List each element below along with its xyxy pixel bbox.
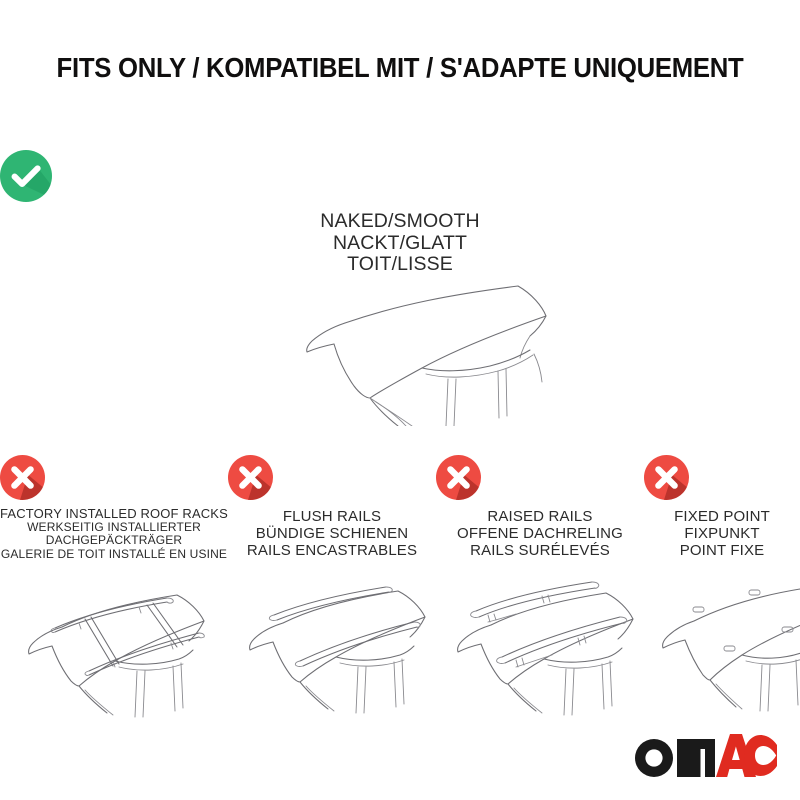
approved-section: NAKED/SMOOTH NACKT/GLATT TOIT/LISSE xyxy=(0,150,800,276)
omac-logo xyxy=(630,732,778,780)
x-circle-icon xyxy=(436,455,644,500)
car-roof-flush-rails-illustration xyxy=(228,565,436,725)
incompatible-section: FACTORY INSTALLED ROOF RACKS WERKSEITIG … xyxy=(0,455,800,727)
car-roof-fixed-point-illustration xyxy=(644,565,800,725)
approved-label-en: NAKED/SMOOTH xyxy=(0,211,800,233)
roof-type-factory-installed-roof-racks: FACTORY INSTALLED ROOF RACKS WERKSEITIG … xyxy=(0,455,228,727)
compatibility-infographic: FITS ONLY / KOMPATIBEL MIT / S'ADAPTE UN… xyxy=(0,0,800,800)
label-fr: RAILS ENCASTRABLES xyxy=(228,542,436,559)
x-circle-icon xyxy=(228,455,436,500)
x-circle-icon xyxy=(644,455,800,500)
roof-type-labels: RAISED RAILS OFFENE DACHRELING RAILS SUR… xyxy=(436,508,644,559)
approved-label-fr: TOIT/LISSE xyxy=(0,254,800,276)
roof-type-flush-rails: FLUSH RAILS BÜNDIGE SCHIENEN RAILS ENCAS… xyxy=(228,455,436,725)
approved-label-de: NACKT/GLATT xyxy=(0,233,800,255)
label-de: BÜNDIGE SCHIENEN xyxy=(228,525,436,542)
label-de-line2: DACHGEPÄCKTRÄGER xyxy=(0,534,228,548)
roof-type-labels: FACTORY INSTALLED ROOF RACKS WERKSEITIG … xyxy=(0,507,228,561)
label-en: FIXED POINT xyxy=(644,508,800,525)
label-en: FLUSH RAILS xyxy=(228,508,436,525)
label-en: FACTORY INSTALLED ROOF RACKS xyxy=(0,507,228,521)
check-circle-icon xyxy=(0,150,800,202)
car-roof-raised-rails-illustration xyxy=(436,565,644,725)
label-de: FIXPUNKT xyxy=(644,525,800,542)
roof-type-fixed-point: FIXED POINT FIXPUNKT POINT FIXE xyxy=(644,455,800,725)
page-title: FITS ONLY / KOMPATIBEL MIT / S'ADAPTE UN… xyxy=(26,52,774,84)
roof-type-raised-rails: RAISED RAILS OFFENE DACHRELING RAILS SUR… xyxy=(436,455,644,725)
approved-labels: NAKED/SMOOTH NACKT/GLATT TOIT/LISSE xyxy=(0,211,800,276)
label-fr: GALERIE DE TOIT INSTALLÉ EN USINE xyxy=(0,548,228,562)
roof-type-labels: FIXED POINT FIXPUNKT POINT FIXE xyxy=(644,508,800,559)
label-fr: RAILS SURÉLEVÉS xyxy=(436,542,644,559)
label-de: OFFENE DACHRELING xyxy=(436,525,644,542)
x-circle-icon xyxy=(0,455,228,500)
label-fr: POINT FIXE xyxy=(644,542,800,559)
car-roof-factory-rack-illustration xyxy=(0,567,228,727)
label-de-line1: WERKSEITIG INSTALLIERTER xyxy=(0,521,228,535)
car-roof-naked-smooth-illustration xyxy=(0,276,800,431)
roof-type-labels: FLUSH RAILS BÜNDIGE SCHIENEN RAILS ENCAS… xyxy=(228,508,436,559)
label-en: RAISED RAILS xyxy=(436,508,644,525)
